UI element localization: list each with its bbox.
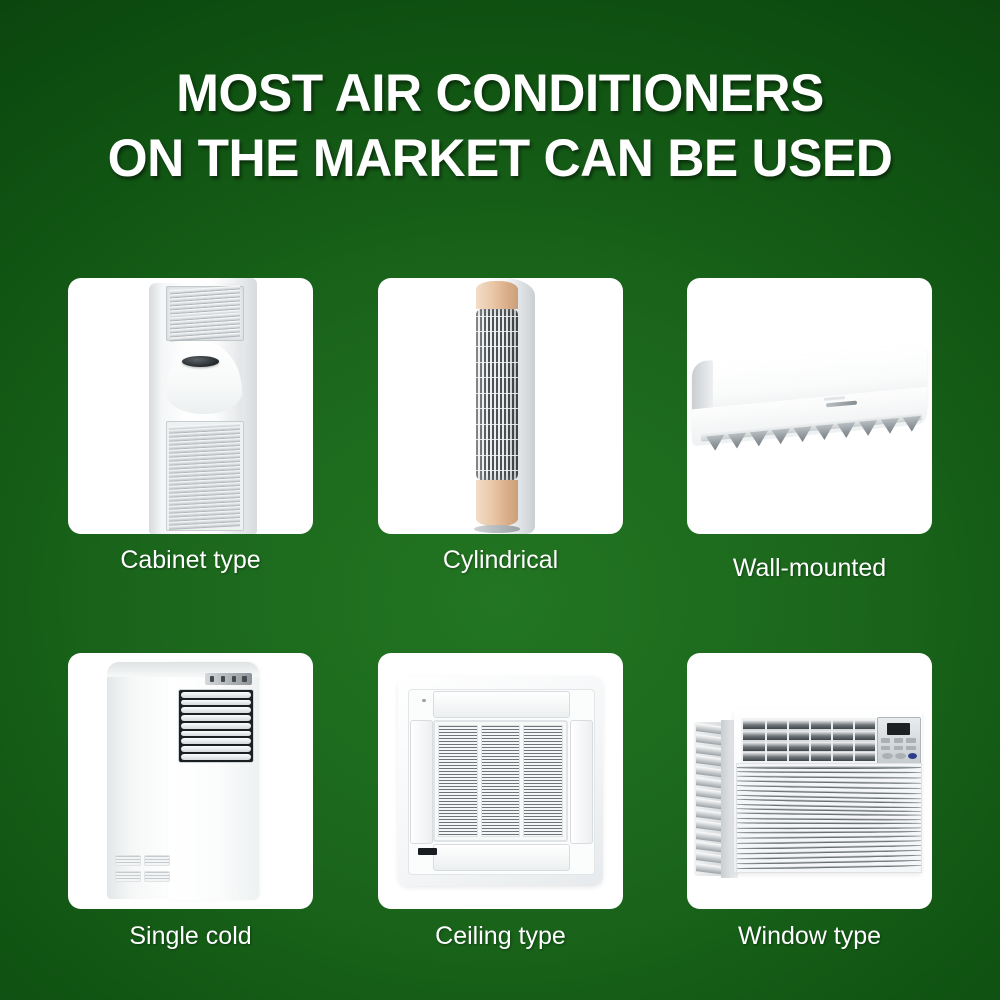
- product-label-single-cold: Single cold: [68, 924, 313, 949]
- title-line-2: ON THE MARKET CAN BE USED: [15, 127, 985, 192]
- product-card-cylindrical[interactable]: [378, 278, 623, 534]
- title-line-1: MOST AIR CONDITIONERS: [15, 62, 985, 127]
- page-title: MOST AIR CONDITIONERS ON THE MARKET CAN …: [15, 62, 985, 191]
- cabinet-air-conditioner-photo: [68, 278, 313, 534]
- product-card-ceiling-type[interactable]: [378, 653, 623, 909]
- product-label-ceiling-type: Ceiling type: [378, 924, 623, 949]
- product-card-wall-mounted[interactable]: [687, 278, 932, 534]
- product-card-cabinet-type[interactable]: [68, 278, 313, 534]
- product-label-cabinet-type: Cabinet type: [68, 548, 313, 573]
- cylindrical-tower-air-conditioner-photo: [378, 278, 623, 534]
- product-card-window-type[interactable]: [687, 653, 932, 909]
- ceiling-cassette-air-conditioner-photo: [378, 653, 623, 909]
- window-air-conditioner-photo: [687, 653, 932, 909]
- product-label-wall-mounted: Wall-mounted: [687, 556, 932, 581]
- product-label-window-type: Window type: [687, 924, 932, 949]
- portable-single-cold-air-conditioner-photo: [68, 653, 313, 909]
- product-label-cylindrical: Cylindrical: [378, 548, 623, 573]
- wall-mounted-split-air-conditioner-photo: [687, 278, 932, 534]
- poster-root: MOST AIR CONDITIONERS ON THE MARKET CAN …: [0, 0, 1000, 1000]
- product-card-single-cold[interactable]: [68, 653, 313, 909]
